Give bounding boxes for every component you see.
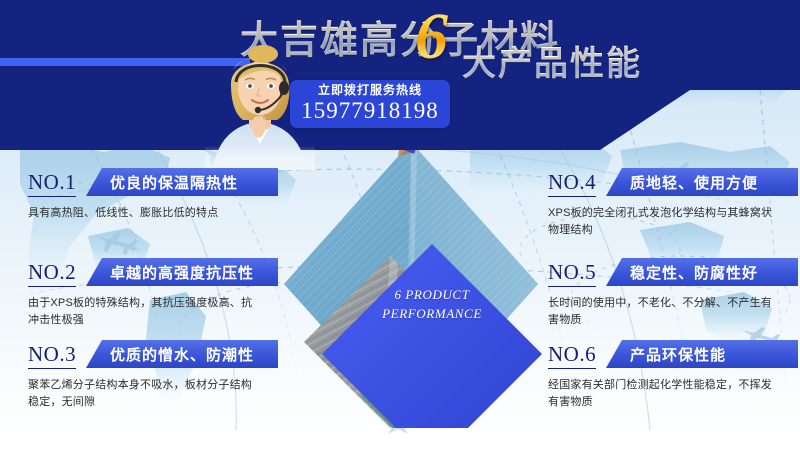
- feature-title-bar: 优质的憎水、防潮性: [86, 340, 278, 368]
- feature-description: 聚苯乙烯分子结构本身不吸水，板材分子结构稳定，无间隙: [28, 377, 260, 411]
- feature-description: 由于XPS板的特殊结构，其抗压强度极高、抗冲击性极强: [28, 295, 260, 329]
- performance-badge-line2: PERFORMANCE: [366, 305, 498, 324]
- feature-head: NO.1 优良的保温隔热性: [28, 168, 278, 198]
- header-title-row: 大吉雄高分子材料: [0, 8, 800, 64]
- big-number-six: 6: [415, 4, 448, 70]
- feature-description: 经国家有关部门检测起化学性能稳定，不挥发有害物质: [548, 377, 780, 411]
- feature-item-5: NO.5 稳定性、防腐性好 长时间的使用中，不老化、不分解、不产生有害物质: [548, 258, 798, 329]
- feature-description: 具有高热阻、低线性、膨胀比低的特点: [28, 205, 260, 222]
- feature-title: 稳定性、防腐性好: [630, 262, 758, 283]
- feature-number: NO.5: [548, 260, 596, 287]
- product-diamond-graphic: 6 PRODUCT PERFORMANCE: [280, 138, 542, 428]
- feature-title-bar: 产品环保性能: [606, 340, 798, 368]
- hotline-box[interactable]: 立即拨打服务热线 15977918198: [290, 80, 450, 128]
- feature-number: NO.4: [548, 170, 596, 197]
- feature-item-1: NO.1 优良的保温隔热性 具有高热阻、低线性、膨胀比低的特点: [28, 168, 278, 222]
- feature-number: NO.3: [28, 342, 76, 369]
- feature-item-6: NO.6 产品环保性能 经国家有关部门检测起化学性能稳定，不挥发有害物质: [548, 340, 798, 411]
- feature-title-bar: 稳定性、防腐性好: [606, 258, 798, 286]
- hotline-label: 立即拨打服务热线: [318, 84, 422, 96]
- feature-title: 优质的憎水、防潮性: [110, 344, 254, 365]
- feature-number: NO.6: [548, 342, 596, 369]
- page-subtitle: 大产品性能: [462, 36, 642, 85]
- feature-title-bar: 优良的保温隔热性: [86, 168, 278, 196]
- performance-badge-line1: 6 PRODUCT: [366, 286, 498, 305]
- feature-head: NO.3 优质的憎水、防潮性: [28, 340, 278, 370]
- promo-banner: 6 PRODUCT PERFORMANCE 大吉雄高分子材料 6 大产品性能: [0, 0, 800, 474]
- feature-title: 优良的保温隔热性: [110, 172, 238, 193]
- feature-head: NO.5 稳定性、防腐性好: [548, 258, 798, 288]
- feature-number: NO.2: [28, 260, 76, 287]
- performance-badge-text: 6 PRODUCT PERFORMANCE: [366, 286, 498, 324]
- feature-item-2: NO.2 卓越的高强度抗压性 由于XPS板的特殊结构，其抗压强度极高、抗冲击性极…: [28, 258, 278, 329]
- feature-head: NO.4 质地轻、使用方便: [548, 168, 798, 198]
- feature-head: NO.6 产品环保性能: [548, 340, 798, 370]
- feature-head: NO.2 卓越的高强度抗压性: [28, 258, 278, 288]
- feature-title-bar: 卓越的高强度抗压性: [86, 258, 278, 286]
- feature-item-4: NO.4 质地轻、使用方便 XPS板的完全闭孔式发泡化学结构与其蜂窝状物理结构: [548, 168, 798, 239]
- feature-number: NO.1: [28, 170, 76, 197]
- feature-title: 卓越的高强度抗压性: [110, 262, 254, 283]
- feature-title: 质地轻、使用方便: [630, 172, 758, 193]
- feature-description: XPS板的完全闭孔式发泡化学结构与其蜂窝状物理结构: [548, 205, 780, 239]
- feature-item-3: NO.3 优质的憎水、防潮性 聚苯乙烯分子结构本身不吸水，板材分子结构稳定，无间…: [28, 340, 278, 411]
- feature-description: 长时间的使用中，不老化、不分解、不产生有害物质: [548, 295, 780, 329]
- feature-title-bar: 质地轻、使用方便: [606, 168, 798, 196]
- hotline-number: 15977918198: [301, 98, 439, 124]
- feature-title: 产品环保性能: [630, 344, 726, 365]
